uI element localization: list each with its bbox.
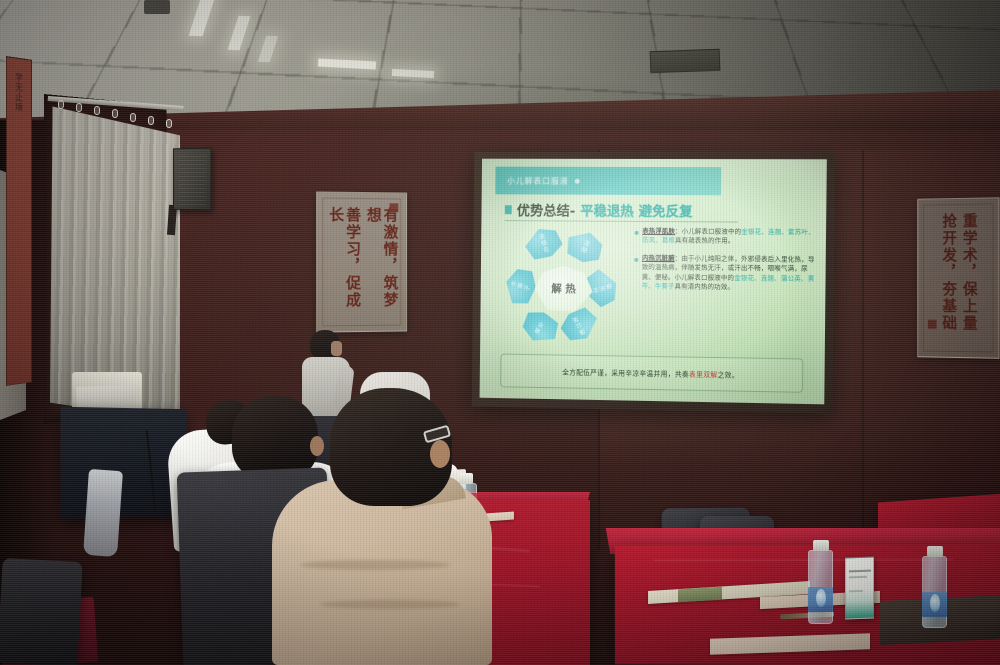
slide-title-accent-2: 避免反复 (639, 200, 693, 220)
wall-scroll-right: 重学术，保上量 抢开发，夯基础 (917, 197, 999, 359)
slide-bullets: 表热浮肌肤：小儿解表口服液中的金银花、连翘、紫苏叶、防风、葛根具有疏表热的作用。… (634, 227, 816, 302)
title-bullet-icon (505, 205, 512, 214)
med-box-text-line (849, 590, 863, 592)
med-box-text-line (849, 576, 867, 579)
wall-scroll-right-line-2: 抢开发，夯基础 (939, 213, 956, 332)
slide-callout-box: 全方配伍严谨，采用辛凉辛温并用，共奏表里双解之效。 (500, 354, 804, 393)
scroll-seal-icon (928, 320, 937, 329)
audience-person-2-ear (310, 436, 324, 456)
bullet-1-lead: 表热浮肌肤 (642, 227, 675, 235)
diagram-petal-label: 金银花 (522, 224, 566, 264)
projection-screen-frame: 小儿解表口服液 优势总结- 平稳退热 避免反复 金银花 连翘 紫苏叶 蒲公英 黄… (472, 152, 835, 414)
wall-scroll-left-text: 学无止境 (13, 72, 24, 113)
chair-left (0, 558, 83, 665)
hanging-jacket (83, 469, 123, 557)
curtain-ring (130, 113, 136, 122)
bullet-2-lead: 内热沉脏腑 (642, 254, 675, 262)
slide-bullet-2-body: 内热沉脏腑：由于小儿纯阳之体，外邪侵表后入里化热，导致的温热病，伴随发热无汗，或… (642, 254, 816, 293)
scroll-seal-icon (390, 203, 399, 212)
wall-scroll-center-line-1: 有激情，筑梦想 (364, 207, 397, 325)
slide-title-accent-1: 平稳退热 (580, 200, 634, 220)
wall-scroll-center-line-2: 善学习，促成长 (326, 207, 360, 326)
wall-speaker (173, 148, 211, 211)
diagram-center-label: 解 热 (551, 281, 575, 296)
slide-title-static: 优势总结- (517, 200, 576, 220)
shirt-fold (300, 560, 450, 570)
shirt-fold (320, 600, 460, 609)
diagram-petal-label: 连翘 (562, 225, 607, 267)
callout-accent: 表里双解 (689, 371, 718, 380)
diagram-petal: 金银花 (522, 224, 566, 264)
diagram-petal-label: 黄芩 (517, 305, 563, 350)
callout-text-1: 全方配伍严谨，采用辛凉辛温并用，共奏 (562, 369, 689, 379)
slide-flower-diagram: 金银花 连翘 紫苏叶 蒲公英 黄芩 牛蒡子 解 热 (500, 228, 627, 350)
slide-title: 优势总结- 平稳退热 避免反复 (505, 199, 693, 220)
slide-banner: 小儿解表口服液 (495, 167, 721, 195)
bottle-logo-icon (816, 589, 826, 607)
audience-person-3-ear (430, 440, 450, 468)
wall-scroll-left-narrow: 学无止境 (6, 56, 32, 386)
bullet-2-text-2: 具有清内热的功效。 (674, 282, 734, 291)
wall-scroll-center: 有激情，筑梦想 善学习，促成长 (316, 191, 407, 332)
slide-title-underline (505, 220, 738, 222)
green-item-on-table (678, 587, 722, 603)
bullet-1-text-2: 具有疏表热的作用。 (675, 236, 735, 244)
speaker-grill (178, 153, 207, 205)
bullet-dot-icon (634, 258, 638, 262)
bottle-cap (927, 546, 943, 557)
diagram-center: 解 热 (534, 266, 592, 312)
curtain-ring (166, 119, 172, 128)
bottle-cap (813, 540, 829, 551)
med-box-text-line (849, 570, 871, 573)
wall-seam (862, 150, 864, 550)
wall-scroll-right-line-1: 重学术，保上量 (960, 213, 977, 333)
projection-screen: 小儿解表口服液 优势总结- 平稳退热 避免反复 金银花 连翘 紫苏叶 蒲公英 黄… (480, 159, 827, 405)
bottle-cap (459, 473, 473, 484)
curtain-ring (148, 116, 154, 125)
water-bottle (808, 540, 833, 624)
presenter-face (331, 341, 342, 356)
medicine-product-box (845, 556, 874, 619)
banner-dot-icon (575, 179, 580, 184)
wall-scroll-right-inner: 重学术，保上量 抢开发，夯基础 (923, 203, 993, 352)
slide-callout-text: 全方配伍严谨，采用辛凉辛温并用，共奏表里双解之效。 (562, 367, 739, 380)
tablecloth-fold (654, 559, 953, 562)
bullet-dot-icon (634, 231, 638, 235)
conference-room-photo: 学无止境 有激情，筑梦想 善学习，促成长 重学术，保上量 抢开发，夯基础 小儿解… (0, 0, 1000, 665)
callout-text-2: 之效。 (717, 371, 739, 379)
wall-scroll-center-inner: 有激情，筑梦想 善学习，促成长 (322, 198, 401, 327)
slide-bullet-1: 表热浮肌肤：小儿解表口服液中的金银花、连翘、紫苏叶、防风、葛根具有疏表热的作用。 (634, 227, 815, 247)
diagram-petal-label: 牛蒡子 (501, 264, 541, 308)
curtain-ring (94, 106, 100, 115)
slide-bullet-2: 内热沉脏腑：由于小儿纯阳之体，外邪侵表后入里化热，导致的温热病，伴随发热无汗，或… (634, 254, 816, 293)
bottle-logo-icon (930, 594, 940, 612)
bullet-1-text-1: ：小儿解表口服液中的 (675, 227, 741, 235)
diagram-petal: 牛蒡子 (501, 264, 541, 308)
curtain-ring (112, 109, 118, 118)
curtain-ring (76, 103, 82, 112)
diagram-petal: 黄芩 (517, 305, 563, 350)
slide-bullet-1-body: 表热浮肌肤：小儿解表口服液中的金银花、连翘、紫苏叶、防风、葛根具有疏表热的作用。 (642, 227, 815, 247)
slide-banner-text: 小儿解表口服液 (495, 175, 569, 186)
water-bottle (922, 546, 947, 628)
diagram-petal: 连翘 (562, 225, 607, 267)
audience-person-3-torso (272, 480, 492, 665)
curtain-ring (58, 100, 64, 109)
